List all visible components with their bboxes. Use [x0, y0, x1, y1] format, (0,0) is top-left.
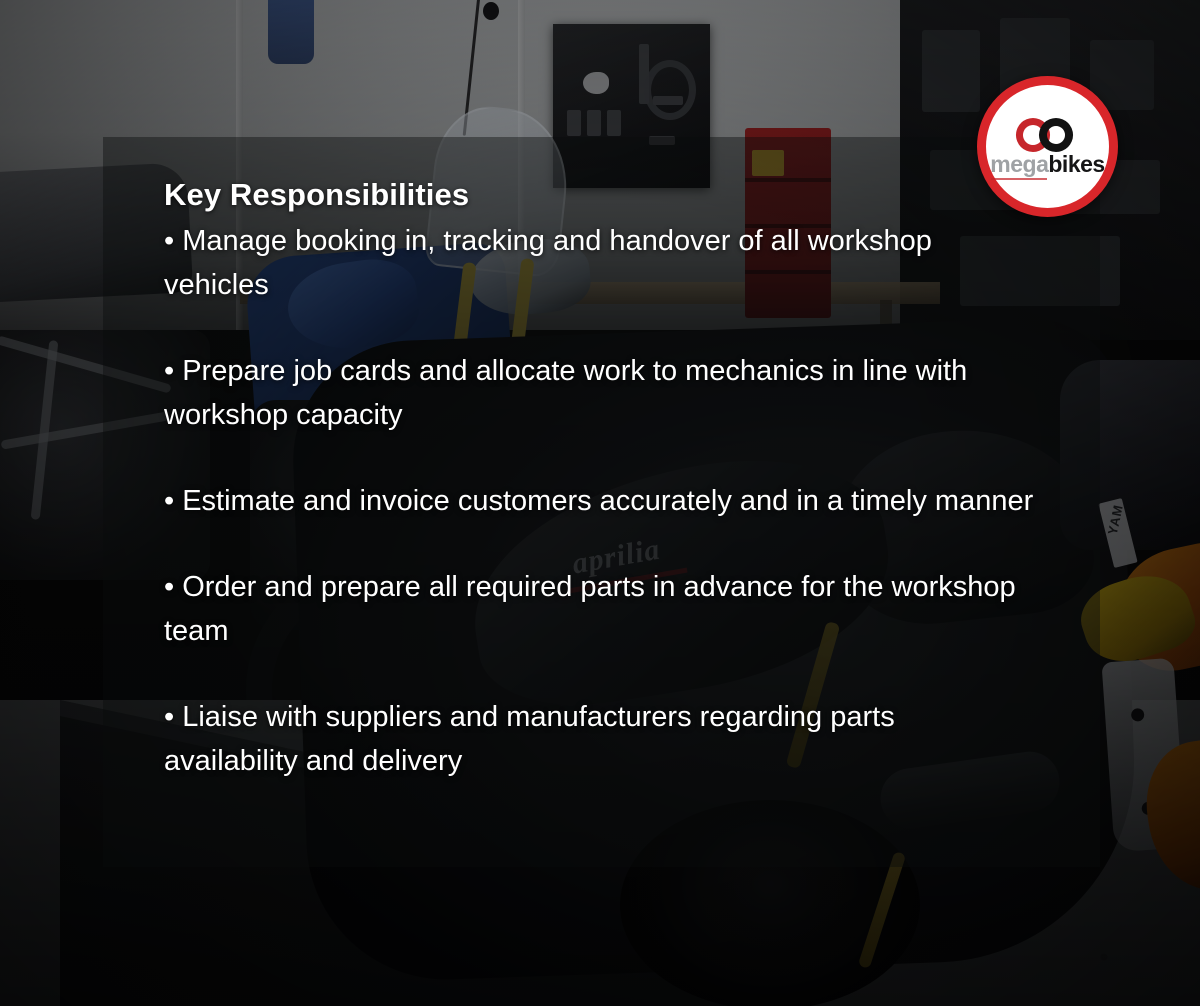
pegboard-tool — [587, 110, 601, 136]
responsibilities-copy-block: Key Responsibilities • Manage booking in… — [164, 176, 1044, 783]
mega-bikes-logo[interactable]: megabikes — [977, 76, 1118, 217]
advert-canvas: aprilia YAM Key Responsibilities • Manag… — [0, 0, 1200, 1006]
pegboard-tool — [649, 136, 675, 145]
cable-knob — [483, 2, 499, 20]
overlapping-rings-icon — [1011, 118, 1085, 152]
responsibility-item-4: • Order and prepare all required parts i… — [164, 565, 1034, 653]
pegboard-ring-tool — [644, 60, 696, 120]
pegboard-tool — [607, 110, 621, 136]
hanging-blue-item — [268, 0, 314, 64]
page-title: Key Responsibilities — [164, 176, 1044, 215]
pegboard-tool — [567, 110, 581, 136]
bracket-hole — [1131, 708, 1145, 722]
shelf-part — [922, 30, 980, 112]
logo-word-bikes: bikes — [1048, 151, 1104, 177]
pegboard-rag — [583, 72, 609, 94]
tool-pegboard — [553, 24, 710, 188]
yellow-label — [752, 150, 784, 176]
logo-wordmark: megabikes — [990, 153, 1104, 176]
logo-word-mega: mega — [990, 151, 1048, 177]
responsibility-item-3: • Estimate and invoice customers accurat… — [164, 479, 1034, 523]
responsibility-item-2: • Prepare job cards and allocate work to… — [164, 349, 1034, 437]
frame-tube — [1, 411, 170, 449]
right-motorcycle-upper — [1060, 360, 1200, 550]
aprilia-motorcycle-wheel — [620, 800, 920, 1006]
responsibility-item-1: • Manage booking in, tracking and handov… — [164, 219, 1034, 307]
logo-underline — [991, 178, 1047, 180]
frame-tube — [31, 340, 59, 520]
frame-tube — [0, 335, 172, 393]
responsibility-item-5: • Liaise with suppliers and manufacturer… — [164, 695, 1034, 783]
